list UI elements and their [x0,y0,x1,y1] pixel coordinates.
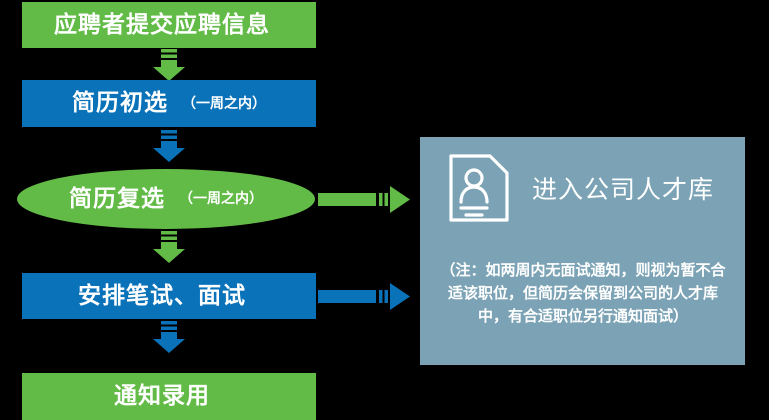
flow-node-label: 安排笔试、面试 [78,285,246,308]
arrow-second-to-test-down-icon [149,231,189,263]
arrow-submit-to-first-down-icon [149,49,189,81]
flow-node-label: 简历复选 [69,188,165,211]
flow-node-notify-hire[interactable]: 通知录用 [22,373,316,420]
flow-node-label: 通知录用 [114,385,210,408]
flow-node-sublabel: （一周之内） [182,97,266,111]
flow-node-label: 应聘者提交应聘信息 [54,14,270,37]
talent-pool-header: 进入公司人才库 [448,152,714,224]
arrow-test-to-hire-down-icon [149,321,189,353]
talent-pool-note: （注：如两周内无面试通知，则视为暂不合适该职位，但简历会保留到公司的人才库中，有… [438,259,728,327]
flowchart-canvas: 应聘者提交应聘信息 简历初选 （一周之内） 简历复选 （一周之内） [0,0,769,418]
talent-pool-title: 进入公司人才库 [532,170,714,206]
arrow-test-to-pool-right-icon [318,281,414,311]
flow-node-resume-second-screen[interactable]: 简历复选 （一周之内） [17,169,315,229]
flow-node-sublabel: （一周之内） [179,192,263,206]
arrow-second-to-pool-right-icon [318,184,414,214]
resume-person-document-icon [448,152,510,224]
flow-node-label: 简历初选 [72,92,168,115]
arrow-first-to-second-down-icon [149,130,189,162]
flow-node-arrange-written-interview[interactable]: 安排笔试、面试 [22,273,316,319]
flow-node-resume-first-screen[interactable]: 简历初选 （一周之内） [22,80,316,127]
talent-pool-panel[interactable]: 进入公司人才库 （注：如两周内无面试通知，则视为暂不合适该职位，但简历会保留到公… [420,137,745,365]
flow-node-submit-application[interactable]: 应聘者提交应聘信息 [22,2,316,48]
